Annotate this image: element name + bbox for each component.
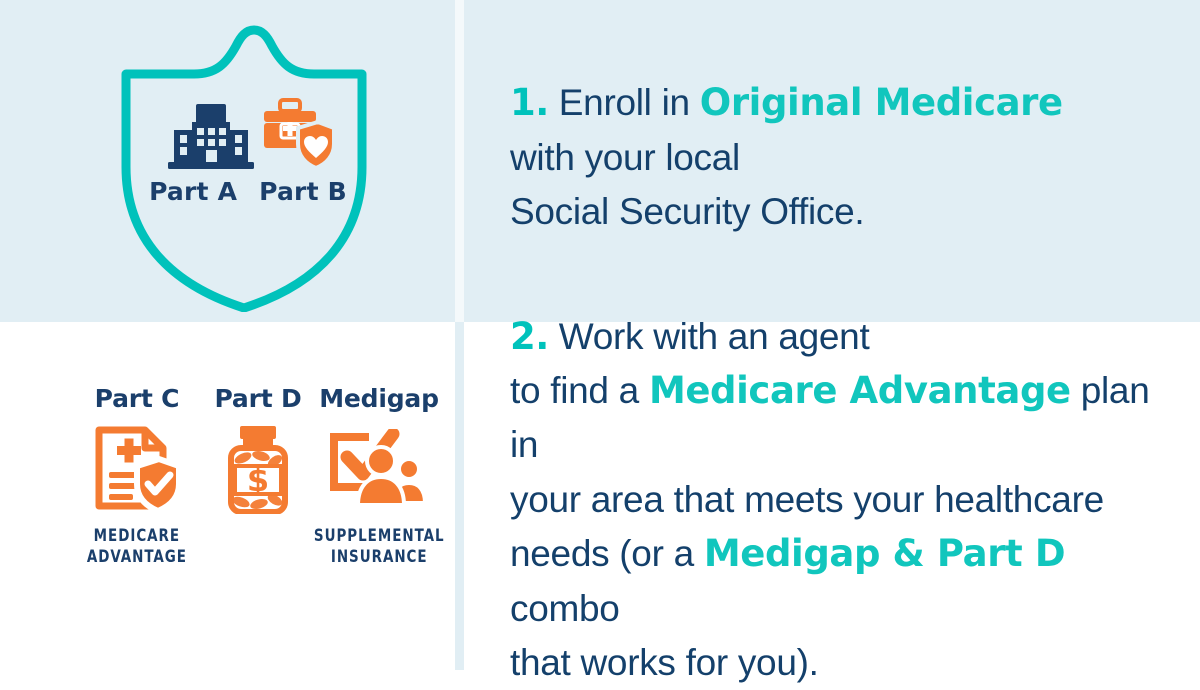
plan-option-medigap: Medigap (320, 384, 438, 569)
step-1-number: 1. (510, 81, 549, 124)
part-ab-label-row: Part A Part B (118, 177, 378, 206)
step-2-visual: Part C (0, 322, 455, 670)
row-2-gap (455, 322, 464, 670)
part-c-caption: MEDICARE ADVANTAGE (87, 526, 187, 569)
step-2-highlight-medigap-part-d: Medigap & Part D (704, 532, 1065, 575)
hospital-icon (168, 104, 254, 170)
step-2-number: 2. (510, 315, 549, 358)
medigap-art (329, 423, 429, 515)
plan-option-part-d: Part D (199, 384, 317, 526)
medicare-steps-infographic: Part A Part B 1. Enroll in Original Medi… (0, 0, 1200, 670)
original-medicare-shield-group: Part A Part B (104, 12, 384, 312)
step-1-paragraph: 1. Enroll in Original Medicare with your… (464, 76, 1081, 239)
plan-option-part-c: Part C (78, 384, 196, 569)
part-a-label: Part A (149, 177, 237, 206)
step-1-line-1-part-1: Enroll in (559, 82, 700, 123)
medigap-title: Medigap (319, 384, 439, 413)
step-2-line-3: your area that meets your healthcare (510, 479, 1104, 520)
part-c-title: Part C (95, 384, 180, 413)
step-2-line-4-part-3: combo (510, 588, 620, 629)
step-2-row: Part C (0, 322, 1200, 670)
part-c-art (93, 423, 181, 515)
pill-bottle-dollar-icon: $ (225, 424, 291, 514)
plan-options-group: Part C (78, 384, 438, 569)
step-2-line-2-part-1: to find a (510, 370, 649, 411)
step-1-highlight-original-medicare: Original Medicare (700, 81, 1063, 124)
row-1-gap (455, 0, 464, 322)
step-1-row: Part A Part B 1. Enroll in Original Medi… (0, 0, 1200, 322)
medigap-caption: SUPPLEMENTAL INSURANCE (314, 526, 445, 569)
checkbox-people-icon (329, 429, 429, 509)
step-1-visual: Part A Part B (0, 0, 455, 322)
step-1-line-2: with your local (510, 137, 740, 178)
medical-document-shield-icon (93, 426, 181, 512)
step-2-paragraph: 2. Work with an agent to find a Medicare… (464, 310, 1200, 690)
part-d-title: Part D (214, 384, 301, 413)
step-1-text-cell: 1. Enroll in Original Medicare with your… (464, 0, 1200, 322)
part-d-art: $ (225, 423, 291, 515)
step-2-line-1: Work with an agent (559, 316, 870, 357)
step-2-line-5: that works for you). (510, 642, 819, 683)
part-ab-icon-row (156, 90, 346, 170)
step-2-text-cell: 2. Work with an agent to find a Medicare… (464, 322, 1200, 670)
part-b-label: Part B (259, 177, 347, 206)
dollar-glyph-icon: $ (247, 461, 269, 499)
first-aid-kit-icon (256, 98, 334, 170)
step-1-line-3: Social Security Office. (510, 191, 864, 232)
step-2-line-4-part-1: needs (or a (510, 533, 704, 574)
step-2-highlight-medicare-advantage: Medicare Advantage (649, 369, 1071, 412)
